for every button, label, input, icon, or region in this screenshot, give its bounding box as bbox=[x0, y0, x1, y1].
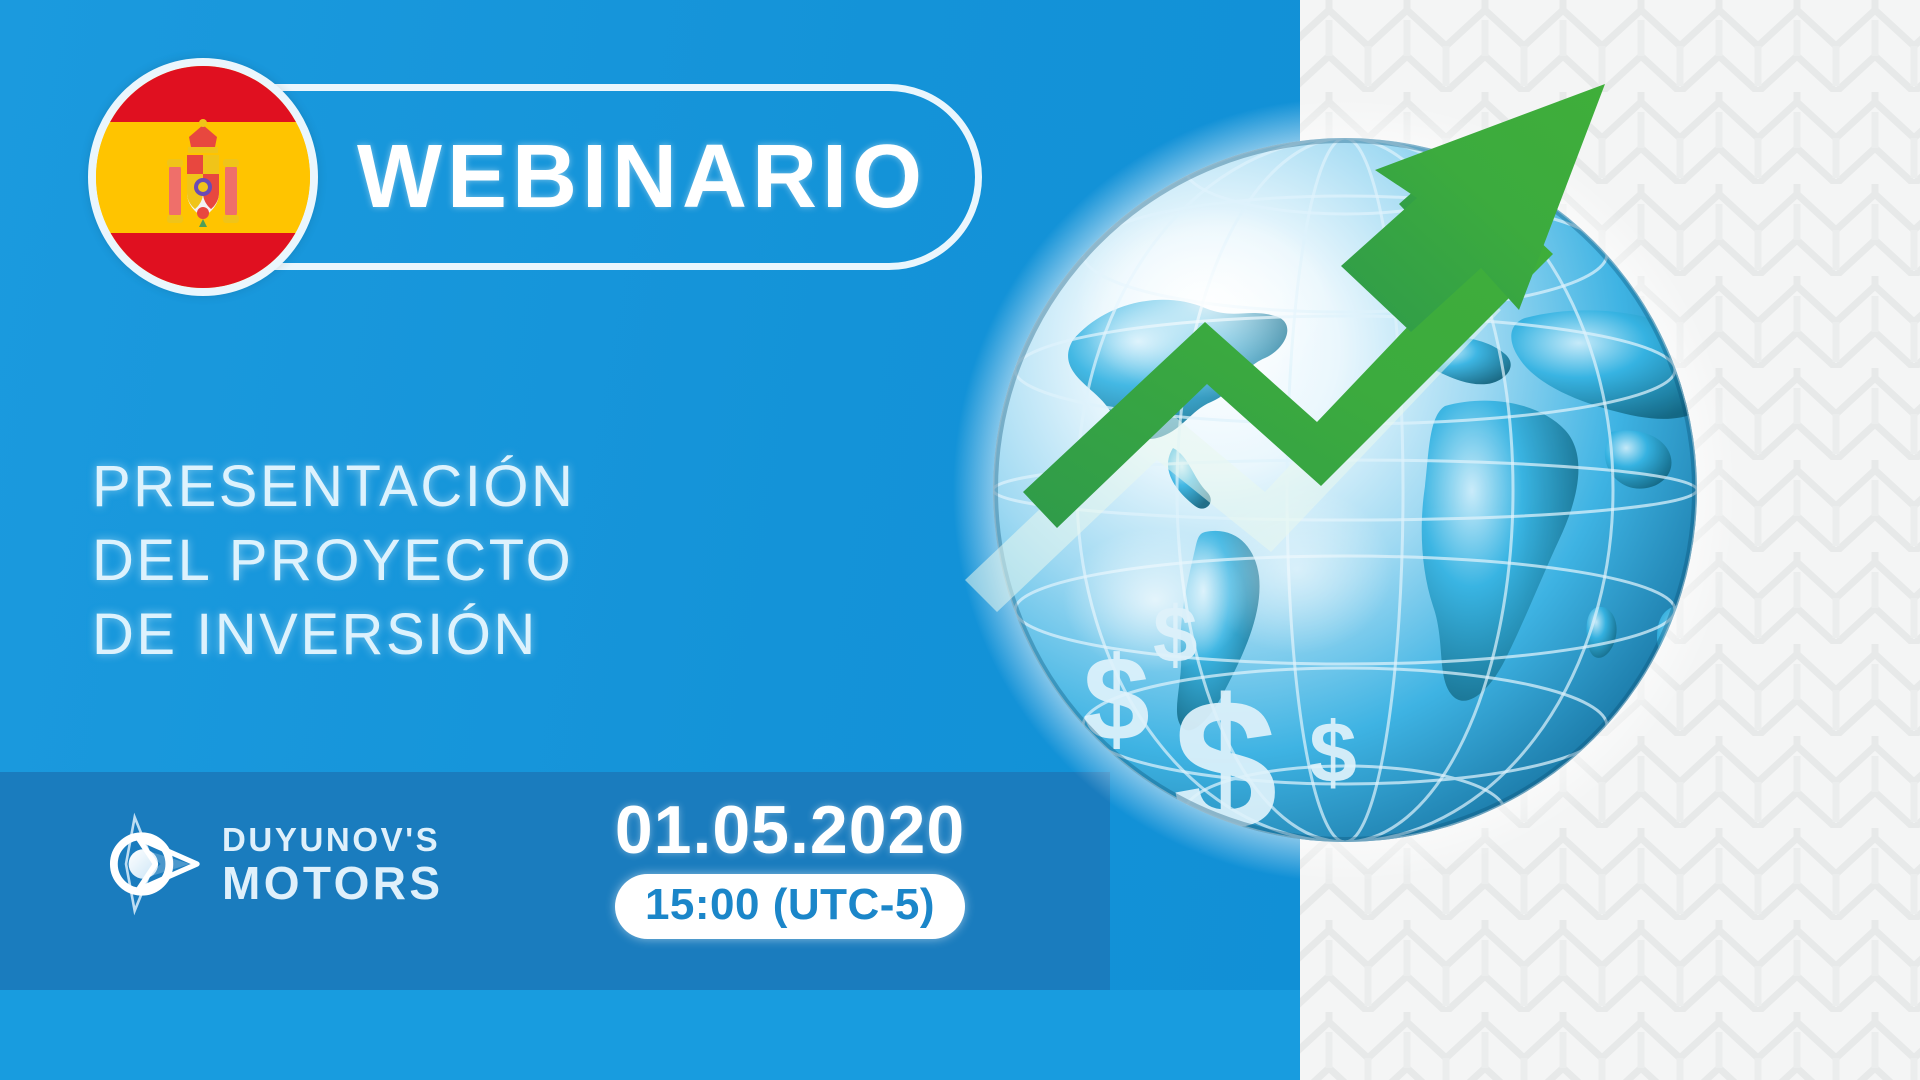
headline-line-1: PRESENTACIÓN bbox=[92, 450, 812, 524]
event-datetime: 01.05.2020 15:00 (UTC-5) bbox=[600, 796, 980, 939]
footer-band-lower bbox=[0, 990, 1300, 1080]
brand-text: DUYUNOV'S MOTORS bbox=[222, 823, 443, 906]
webinar-banner: $ $ $ $ WEBINARIO bbox=[0, 0, 1920, 1080]
geometric-pattern-icon bbox=[1290, 0, 1920, 1080]
spain-flag-icon bbox=[88, 58, 318, 296]
flag-stripe-red-bottom bbox=[96, 233, 310, 289]
coat-of-arms-icon bbox=[155, 115, 251, 239]
brand-line-2: MOTORS bbox=[222, 860, 443, 906]
event-date: 01.05.2020 bbox=[600, 796, 980, 864]
duyunovs-motors-logo-icon bbox=[100, 812, 204, 916]
headline-block: PRESENTACIÓN DEL PROYECTO DE INVERSIÓN bbox=[92, 450, 812, 672]
webinario-label: WEBINARIO bbox=[357, 126, 927, 229]
brand-logo: DUYUNOV'S MOTORS bbox=[100, 812, 443, 916]
brand-line-1: DUYUNOV'S bbox=[222, 823, 443, 856]
flag-stripe-red-top bbox=[96, 66, 310, 122]
headline-line-2: DEL PROYECTO bbox=[92, 524, 812, 598]
right-pattern-panel bbox=[1290, 0, 1920, 1080]
headline-line-3: DE INVERSIÓN bbox=[92, 598, 812, 672]
event-time-badge: 15:00 (UTC-5) bbox=[615, 874, 965, 939]
